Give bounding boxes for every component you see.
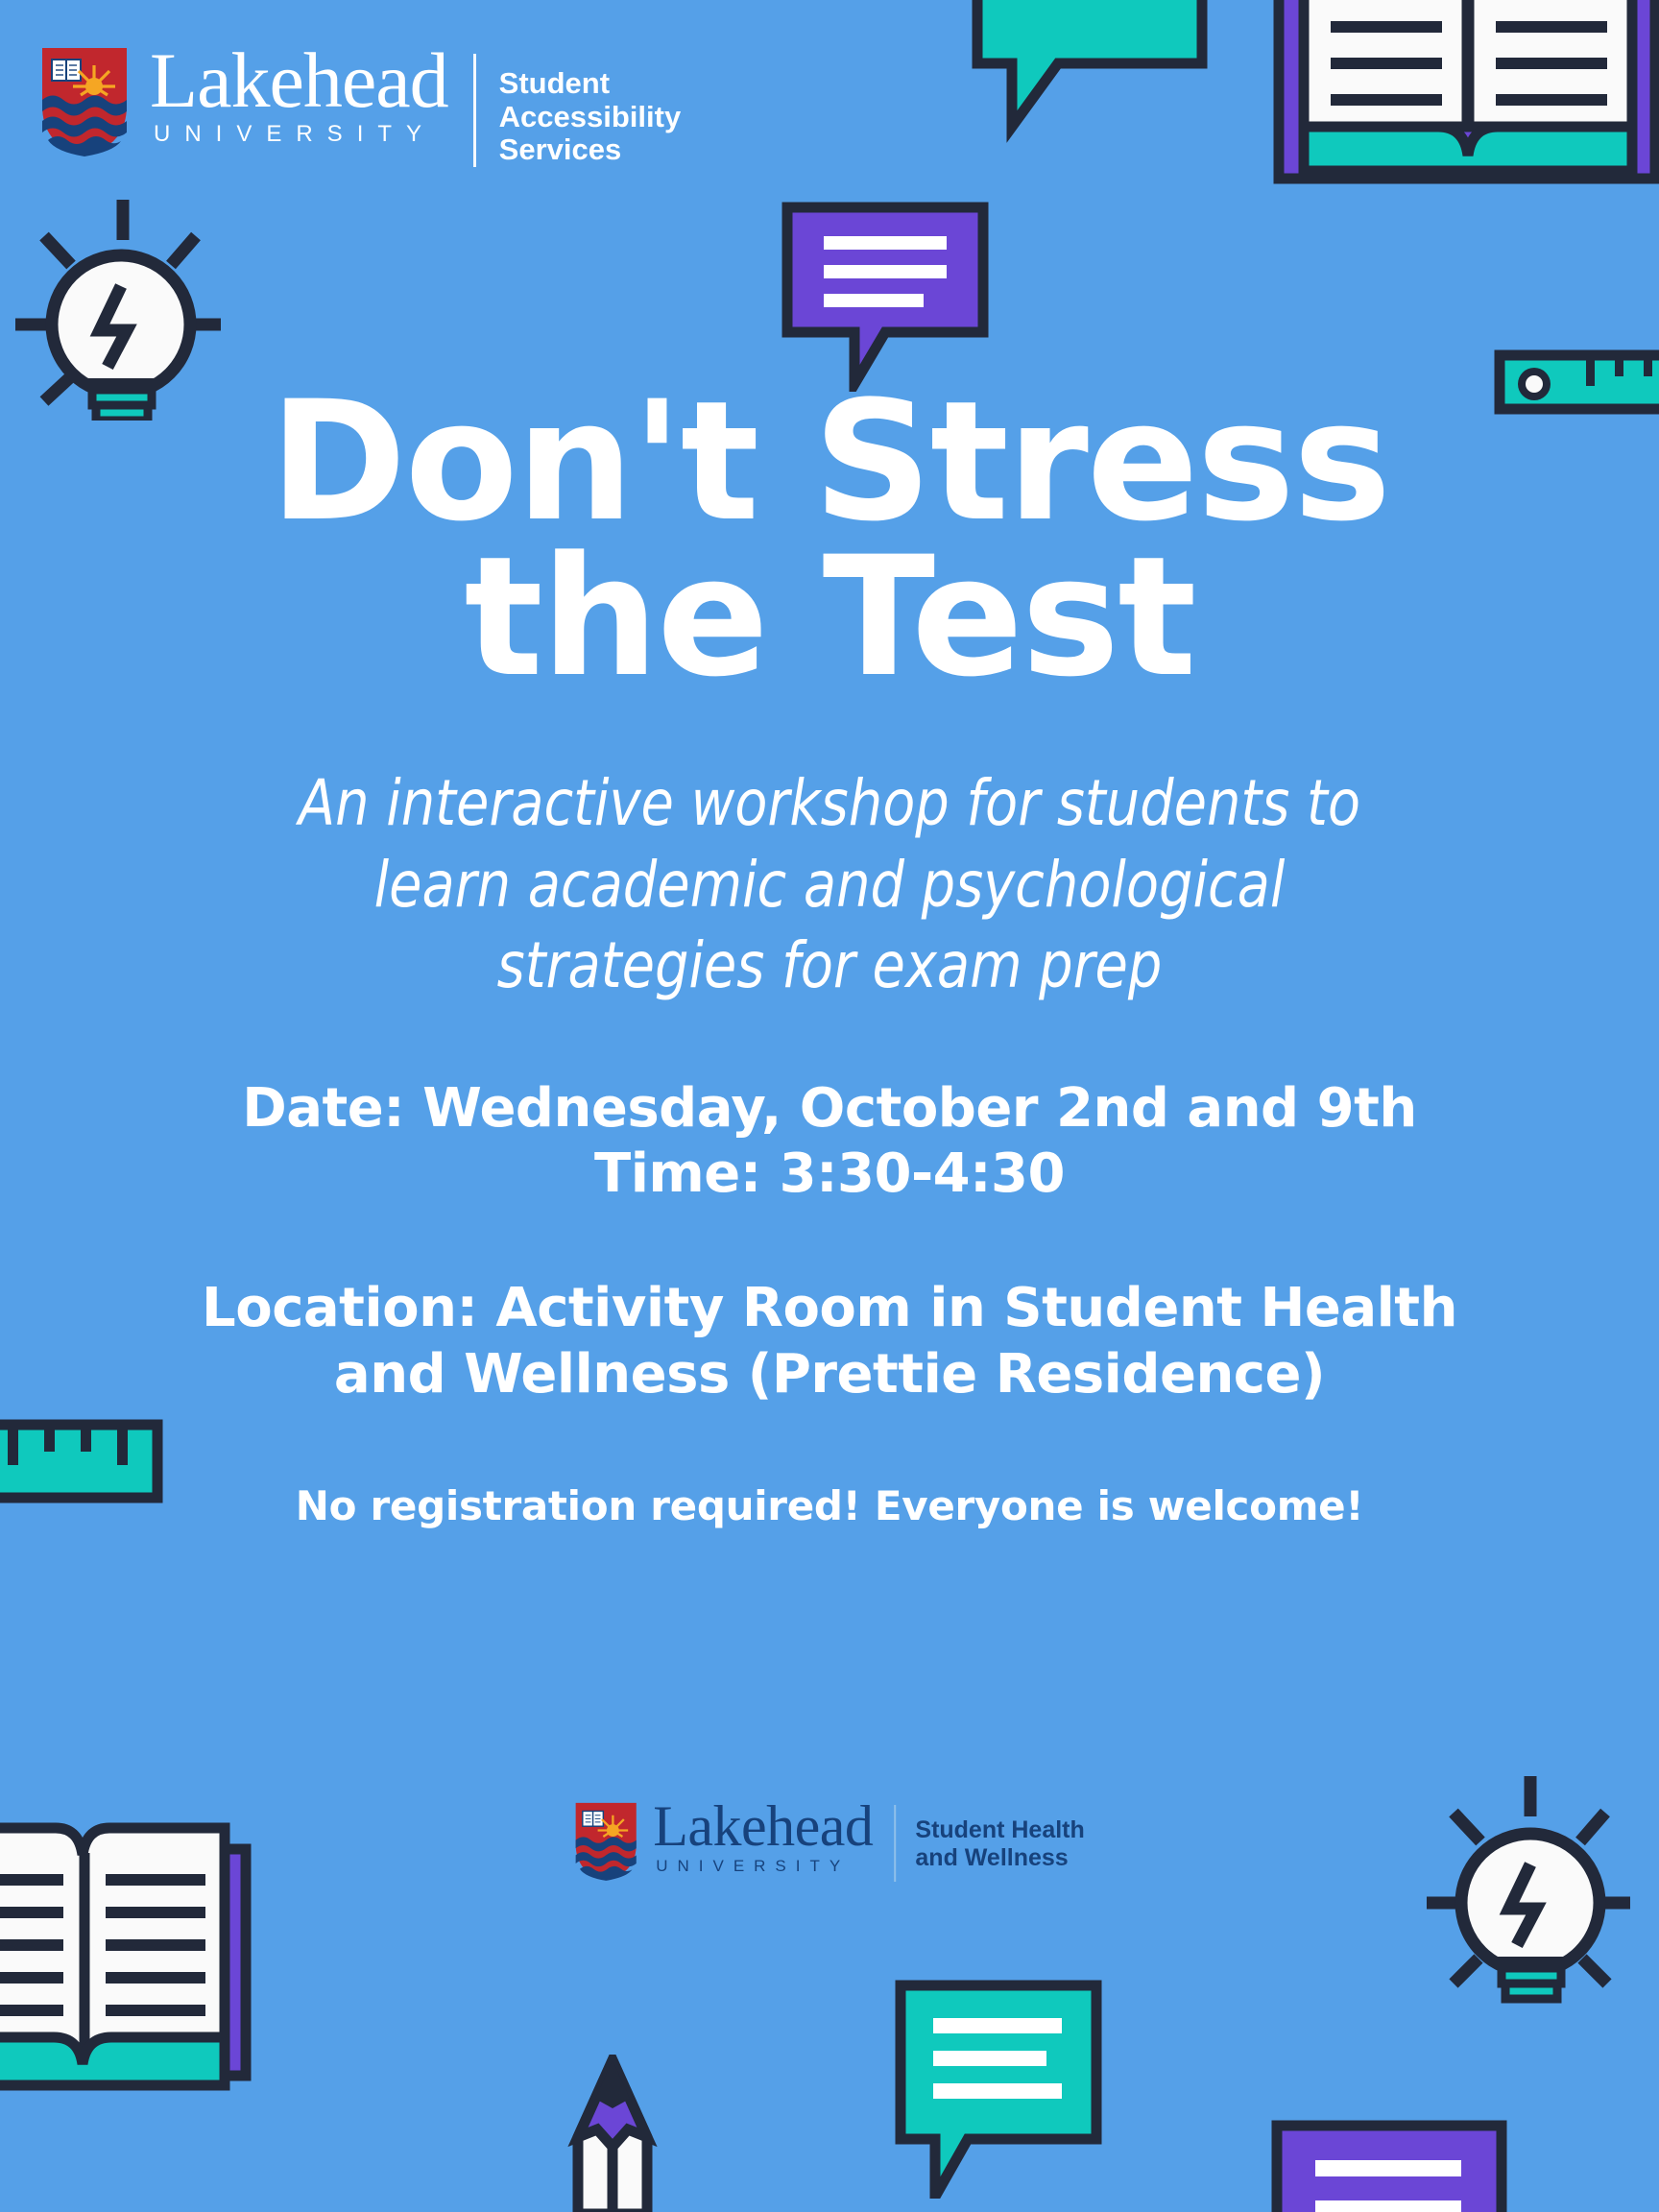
subtitle-line-1: An interactive workshop for students to [299, 766, 1360, 840]
time-line: Time: 3:30-4:30 [594, 1142, 1065, 1205]
unit-name-block: Student Accessibility Services [499, 67, 749, 167]
headline-line-2: the Test [465, 520, 1195, 713]
location-line-2: and Wellness (Prettie Residence) [334, 1343, 1325, 1406]
subtitle-line-3: strategies for exam prep [497, 928, 1163, 1002]
lakehead-wordmark-subtext: UNIVERSITY [653, 1857, 873, 1876]
lakehead-shw-logo: Lakehead UNIVERSITY Student Health and W… [574, 1801, 1085, 1882]
purple-speech-bubble-icon [1269, 2118, 1509, 2212]
location-line-1: Location: Activity Room in Student Healt… [202, 1277, 1457, 1339]
unit-name-block: Student Health and Wellness [915, 1816, 1084, 1871]
subtitle-line-2: learn academic and psychological [374, 848, 1286, 922]
poster-content: Don't Stress the Test An interactive wor… [0, 0, 1659, 1530]
unit-name-line-2: and Wellness [915, 1844, 1084, 1872]
date-time-block: Date: Wednesday, October 2nd and 9th Tim… [0, 1076, 1659, 1208]
lakehead-wordmark: Lakehead UNIVERSITY [150, 46, 448, 148]
lakehead-crest-icon [40, 46, 129, 157]
unit-name-line-2: Services [499, 133, 749, 167]
lakehead-wordmark-subtext: UNIVERSITY [150, 121, 448, 148]
unit-name-line-1: Student Accessibility [499, 67, 749, 133]
teal-speech-bubble-icon [893, 1978, 1104, 2199]
poster-canvas: Lakehead UNIVERSITY Student Accessibilit… [0, 0, 1659, 2212]
logo-divider [894, 1805, 896, 1882]
registration-callout: No registration required! Everyone is we… [0, 1482, 1659, 1530]
lakehead-sas-logo: Lakehead UNIVERSITY Student Accessibilit… [40, 46, 749, 167]
lakehead-wordmark: Lakehead UNIVERSITY [653, 1801, 873, 1876]
lakehead-crest-icon [574, 1801, 637, 1882]
lakehead-wordmark-text: Lakehead [653, 1801, 873, 1852]
page-title: Don't Stress the Test [0, 384, 1659, 694]
unit-name-line-1: Student Health [915, 1816, 1084, 1844]
open-book-icon [0, 1811, 259, 2099]
date-line: Date: Wednesday, October 2nd and 9th [242, 1077, 1417, 1140]
lightbulb-icon [1423, 1767, 1644, 2007]
pencil-icon [565, 2055, 661, 2212]
logo-divider [473, 54, 476, 167]
lakehead-wordmark-text: Lakehead [150, 46, 448, 115]
subtitle: An interactive workshop for students to … [50, 763, 1609, 1006]
location-block: Location: Activity Room in Student Healt… [0, 1276, 1659, 1407]
